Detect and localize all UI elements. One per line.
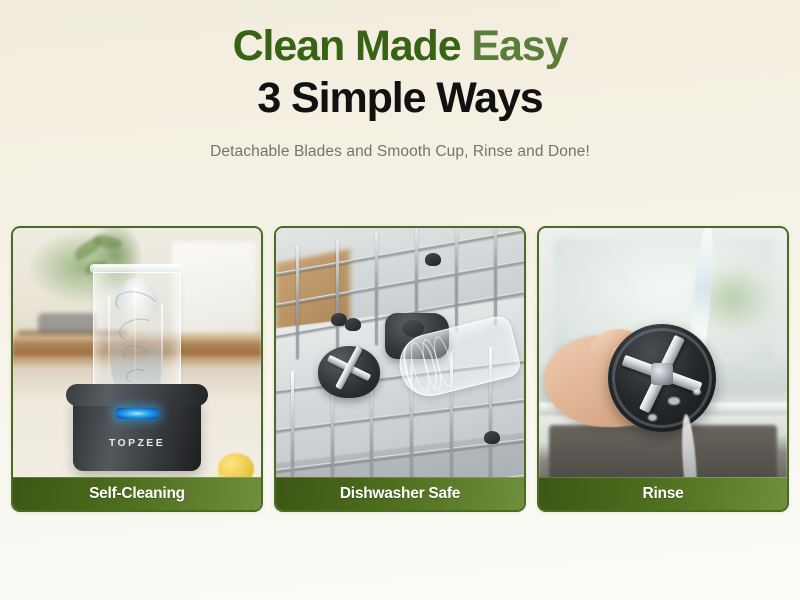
- tagline: Detachable Blades and Smooth Cup, Rinse …: [0, 143, 800, 161]
- water-splash: [693, 389, 701, 395]
- water-streak: [134, 286, 136, 390]
- water-streak: [161, 304, 163, 387]
- card-caption-rinse: Rinse: [539, 477, 787, 510]
- rack-clip: [331, 313, 347, 326]
- blender-base: TOPZEE: [73, 393, 201, 471]
- blender-base-collar: [66, 384, 208, 406]
- card-caption-dishwasher-safe: Dishwasher Safe: [276, 477, 524, 510]
- rack-wire: [276, 397, 524, 434]
- header: Clean Made Easy 3 Simple Ways Detachable…: [0, 0, 800, 161]
- self-cleaning-photo: TOPZEE: [13, 228, 261, 510]
- power-indicator-led: [115, 408, 159, 419]
- blade-assembly: [318, 346, 380, 398]
- feature-card-rinse[interactable]: Rinse: [537, 226, 789, 512]
- dishwasher-photo: [276, 228, 524, 510]
- rack-clip: [345, 318, 361, 331]
- rack-clip: [484, 431, 500, 444]
- page-subtitle-heading: 3 Simple Ways: [0, 74, 800, 122]
- rack-clip: [425, 253, 441, 266]
- page-title: Clean Made Easy: [0, 22, 800, 70]
- kitchen-window: [172, 242, 256, 332]
- rinse-photo: [539, 228, 787, 510]
- water-streak: [108, 295, 110, 387]
- kitchen-pot: [38, 313, 96, 333]
- feature-card-row: TOPZEE Self-Cleaning: [11, 226, 789, 512]
- cup-rim: [90, 264, 184, 273]
- card-caption-self-cleaning: Self-Cleaning: [13, 477, 261, 510]
- headline-part-1: Clean Made: [233, 22, 461, 70]
- blade-hub: [651, 363, 673, 385]
- headline-part-2: Easy: [471, 22, 567, 70]
- blade-assembly: [608, 324, 716, 432]
- brand-logo: TOPZEE: [73, 437, 201, 449]
- feature-card-dishwasher-safe[interactable]: Dishwasher Safe: [274, 226, 526, 512]
- feature-card-self-cleaning[interactable]: TOPZEE Self-Cleaning: [11, 226, 263, 512]
